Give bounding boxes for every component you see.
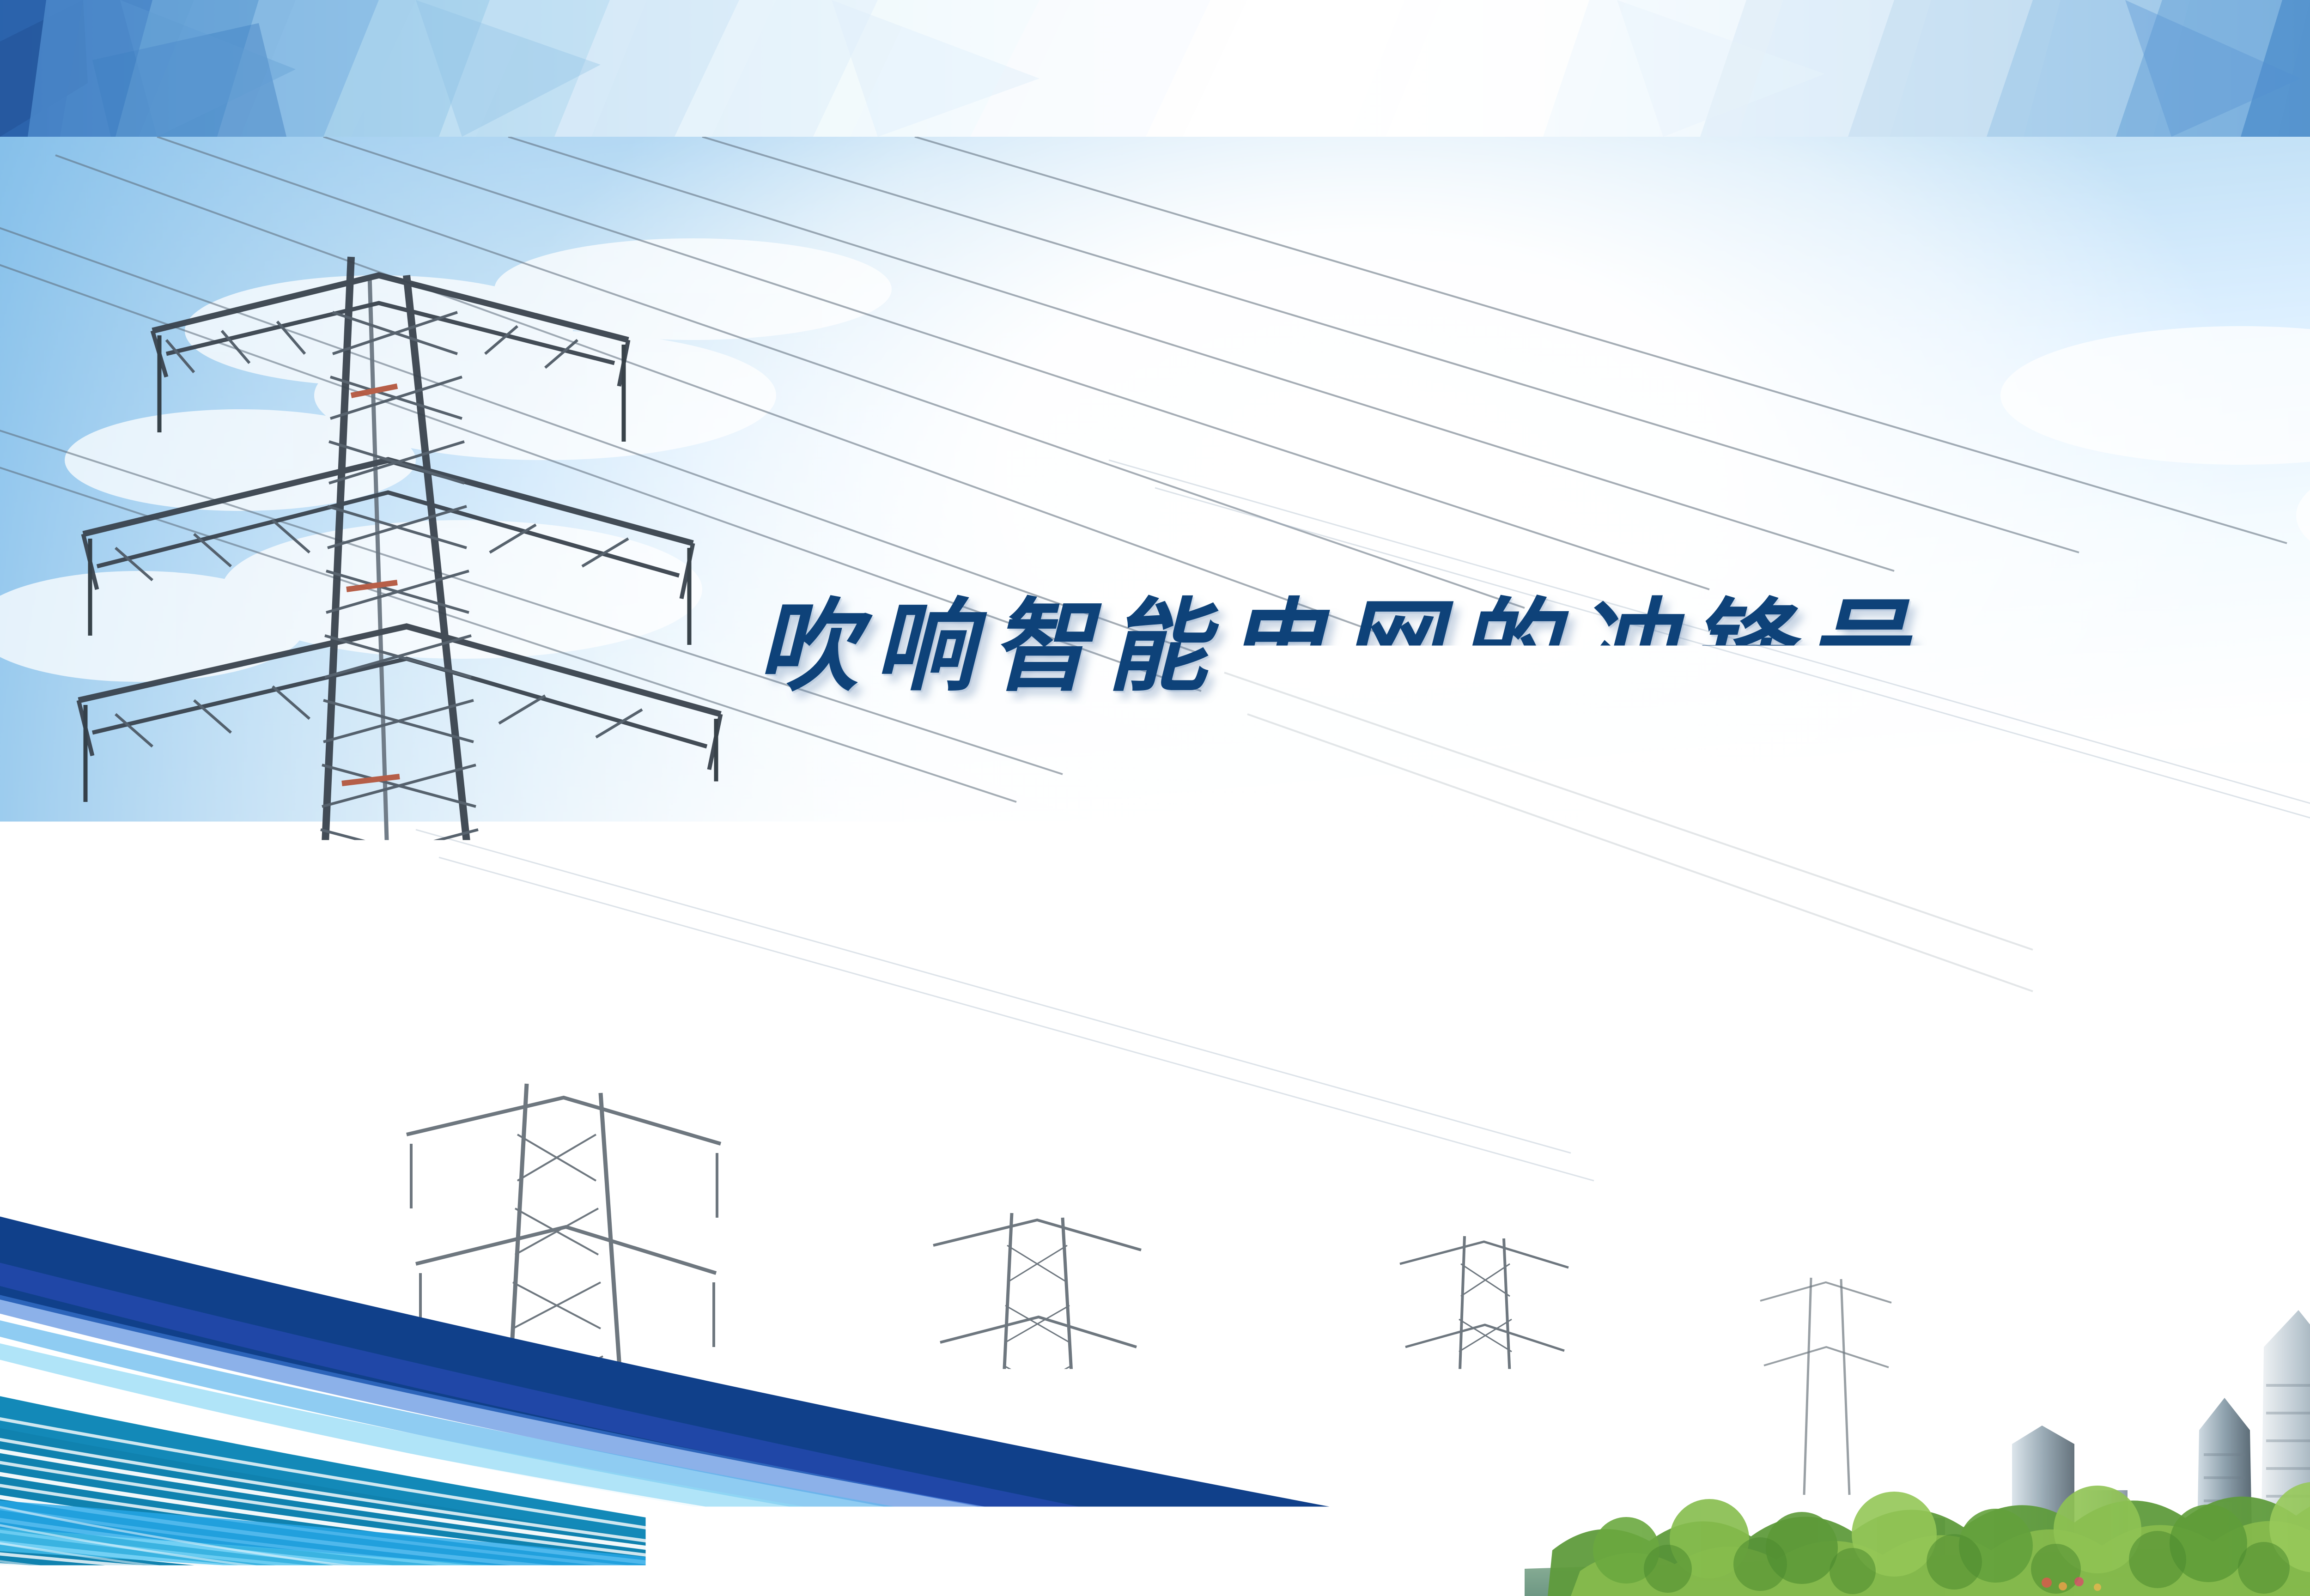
scene-illustration — [0, 137, 2310, 1596]
low-poly-triangles — [0, 0, 2310, 137]
smart-grid-banner: 吹响智能电网的冲锋号 引领影视文化新潮流 — [0, 0, 2310, 1596]
scene-photo-area — [0, 137, 2310, 1596]
low-poly-header-band — [0, 0, 2310, 137]
